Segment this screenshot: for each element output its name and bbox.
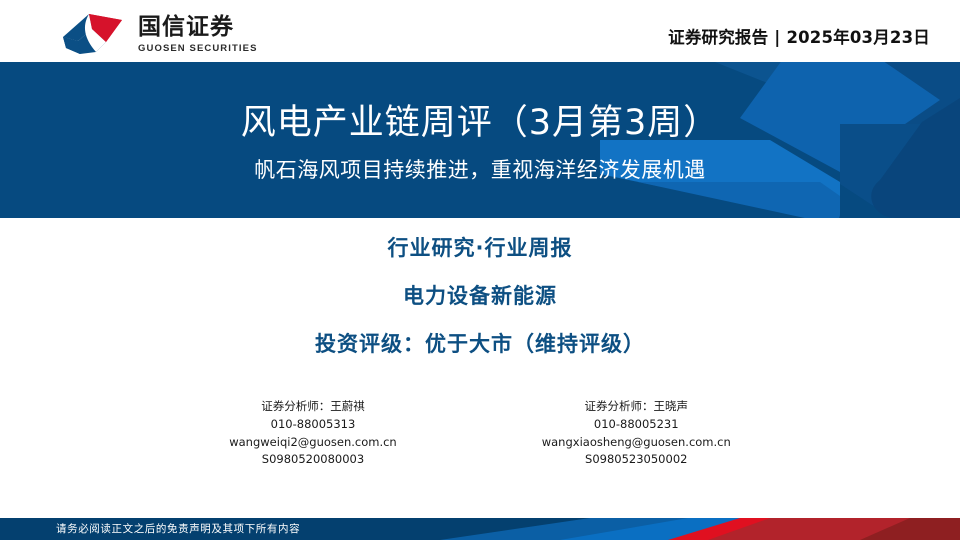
brand-name-en: GUOSEN SECURITIES	[138, 43, 258, 54]
analyst-license: S0980520080003	[229, 451, 397, 469]
report-cover-page: 国信证券 GUOSEN SECURITIES 证券研究报告 | 2025年03月…	[0, 0, 960, 540]
analyst-name: 证券分析师：王蔚祺	[229, 398, 397, 416]
analyst-phone: 010-88005313	[229, 416, 397, 434]
industry-name: 电力设备新能源	[0, 280, 960, 310]
page-footer: 请务必阅读正文之后的免责声明及其项下所有内容	[0, 518, 960, 540]
brand-name-cn: 国信证券	[138, 15, 258, 39]
footer-color-stripe-icon	[440, 518, 960, 540]
analyst-license: S0980523050002	[542, 451, 731, 469]
analyst-email[interactable]: wangweiqi2@guosen.com.cn	[229, 434, 397, 452]
report-type-date: 证券研究报告 | 2025年03月23日	[668, 24, 930, 48]
report-category-block: 行业研究·行业周报 电力设备新能源 投资评级：优于大市（维持评级）	[0, 232, 960, 358]
guosen-ribbon-logo-icon	[56, 12, 128, 56]
investment-rating: 投资评级：优于大市（维持评级）	[0, 328, 960, 358]
analyst-card: 证券分析师：王晓声 010-88005231 wangxiaosheng@guo…	[542, 398, 731, 469]
page-header: 国信证券 GUOSEN SECURITIES 证券研究报告 | 2025年03月…	[0, 0, 960, 62]
analyst-phone: 010-88005231	[542, 416, 731, 434]
analyst-list: 证券分析师：王蔚祺 010-88005313 wangweiqi2@guosen…	[0, 398, 960, 469]
report-subtitle: 帆石海风项目持续推进，重视海洋经济发展机遇	[0, 154, 960, 184]
title-banner: 风电产业链周评（3月第3周） 帆石海风项目持续推进，重视海洋经济发展机遇	[0, 62, 960, 218]
analyst-card: 证券分析师：王蔚祺 010-88005313 wangweiqi2@guosen…	[229, 398, 397, 469]
cover-main: 行业研究·行业周报 电力设备新能源 投资评级：优于大市（维持评级） 证券分析师：…	[0, 218, 960, 518]
footer-disclaimer: 请务必阅读正文之后的免责声明及其项下所有内容	[56, 518, 300, 540]
research-category: 行业研究·行业周报	[0, 232, 960, 262]
brand-logo-text: 国信证券 GUOSEN SECURITIES	[138, 14, 258, 53]
report-title: 风电产业链周评（3月第3周）	[0, 94, 960, 145]
brand-logo: 国信证券 GUOSEN SECURITIES	[56, 12, 258, 56]
analyst-name: 证券分析师：王晓声	[542, 398, 731, 416]
analyst-email[interactable]: wangxiaosheng@guosen.com.cn	[542, 434, 731, 452]
